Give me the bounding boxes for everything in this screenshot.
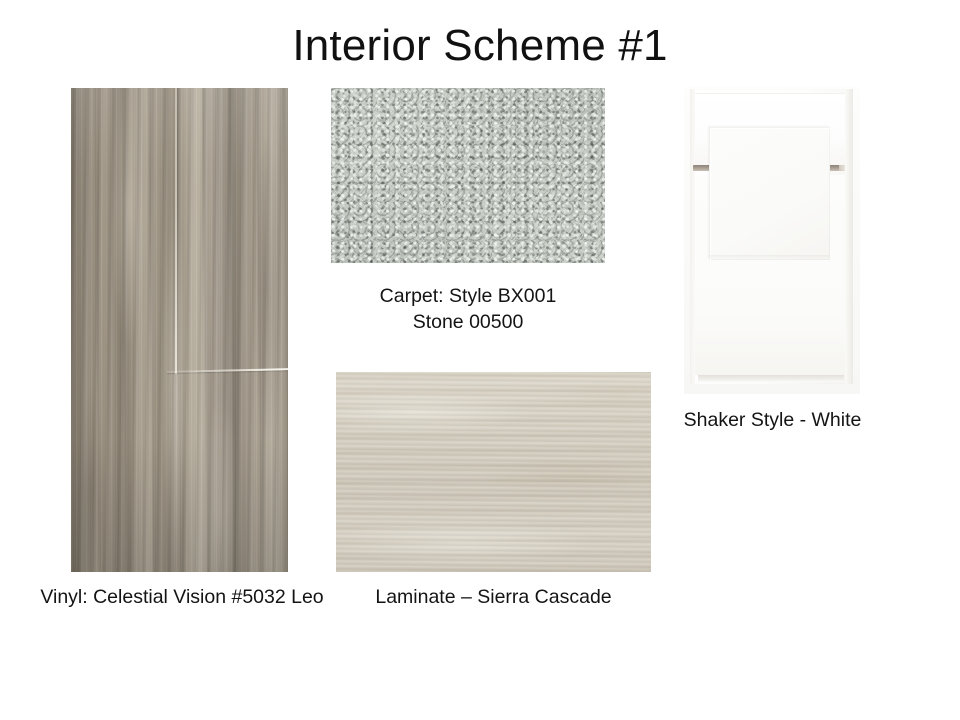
carpet-caption-line-1: Carpet: Style BX001 [331, 283, 605, 309]
vinyl-shading-overlay [71, 88, 288, 572]
cabinet-shaker-panel [709, 127, 830, 260]
carpet-caption: Carpet: Style BX001 Stone 00500 [331, 283, 605, 335]
page-title: Interior Scheme #1 [0, 20, 960, 72]
carpet-swatch [331, 88, 605, 263]
carpet-caption-line-2: Stone 00500 [331, 309, 605, 335]
cabinet-door-swatch [684, 87, 860, 394]
cabinet-bottom-shadow [698, 375, 844, 382]
slide-canvas: Interior Scheme #1 Vinyl: Celestial Visi… [0, 0, 960, 720]
cabinet-right-edge [845, 89, 853, 384]
vinyl-plank-swatch [71, 88, 288, 572]
laminate-grain-fine [336, 372, 651, 572]
carpet-noise-overlay [331, 88, 605, 263]
cabinet-panel-shadow [709, 255, 829, 259]
laminate-swatch [336, 372, 651, 572]
laminate-caption: Laminate – Sierra Cascade [336, 584, 651, 610]
vinyl-caption: Vinyl: Celestial Vision #5032 Leo [12, 584, 352, 610]
cabinet-caption: Shaker Style - White [660, 407, 885, 433]
